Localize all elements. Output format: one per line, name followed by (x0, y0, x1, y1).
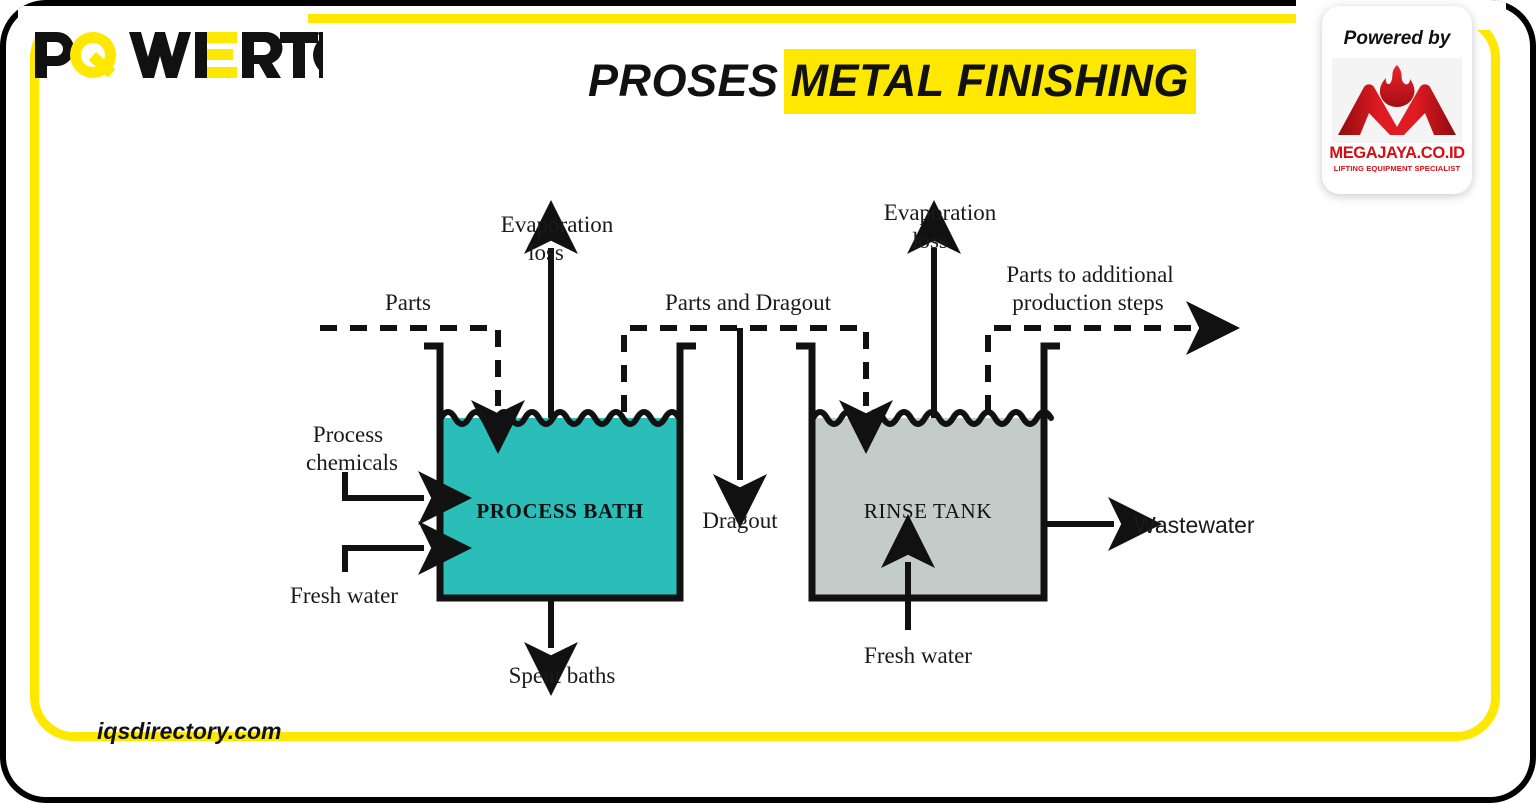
page-title: PROSESMETAL FINISHING (588, 58, 1196, 103)
flow-parts-to-additional-steps-label-line2: production steps (1012, 290, 1163, 315)
rinse-tank-label: RINSE TANK (864, 499, 992, 523)
flow-wastewater-label: Wastewater (1134, 512, 1255, 538)
flow-parts-in-arrow (320, 328, 498, 406)
flow-parts-to-additional-steps: Parts to additional production steps (988, 262, 1192, 412)
flow-process-chemicals-label-line1: Process (313, 422, 383, 447)
powertec-logo: R (33, 27, 323, 83)
flow-fresh-water-rinse-tank-label: Fresh water (864, 643, 972, 668)
flow-fresh-water-process-bath-arrow (345, 548, 424, 572)
flow-parts-to-additional-steps-label-line1: Parts to additional (1006, 262, 1173, 287)
flow-fresh-water-process-bath: Fresh water (290, 548, 424, 608)
powered-by-label: Powered by (1322, 28, 1472, 50)
process-bath-label: PROCESS BATH (476, 499, 643, 523)
svg-text:R: R (318, 36, 323, 43)
flow-evaporation-loss-1-label-line2: loss (528, 240, 564, 265)
process-flow-diagram: PROCESS BATH RINSE TANK Parts Evaporatio… (0, 150, 1536, 710)
source-footer: iqsdirectory.com (97, 718, 281, 745)
flow-dragout-label: Dragout (702, 508, 778, 533)
flow-process-chemicals-arrow (345, 472, 424, 498)
process-bath-tank: PROCESS BATH (424, 346, 696, 598)
flow-parts-and-dragout: Parts and Dragout (624, 290, 866, 412)
page-title-plain: PROSES (588, 55, 779, 106)
flow-parts-in-label: Parts (385, 290, 431, 315)
flow-spent-baths-label: Spent baths (509, 663, 616, 688)
powertec-logo-mark: R (33, 26, 323, 84)
flow-fresh-water-process-bath-label: Fresh water (290, 583, 398, 608)
flow-spent-baths: Spent baths (509, 600, 616, 688)
megajaya-logo-mark (1334, 61, 1460, 139)
flow-evaporation-loss-2-label-line2: loss (912, 228, 948, 253)
flow-parts-and-dragout-label: Parts and Dragout (665, 290, 832, 315)
flow-parts-to-additional-steps-arrow (988, 328, 1192, 412)
flow-evaporation-loss-2-label-line1: Evaporation (884, 200, 997, 225)
flow-evaporation-loss-rinse-tank: Evaporation loss (884, 200, 997, 418)
rinse-tank: RINSE TANK (796, 346, 1060, 598)
flow-evaporation-loss-1-label-line1: Evaporation (501, 212, 614, 237)
flow-parts-in: Parts (320, 290, 498, 406)
flow-evaporation-loss-process-bath: Evaporation loss (501, 212, 614, 418)
flow-process-chemicals-label-line2: chemicals (306, 450, 398, 475)
flow-parts-and-dragout-arrow (624, 328, 866, 412)
megajaya-logo (1332, 58, 1462, 143)
flow-wastewater: Wastewater (1046, 512, 1255, 538)
page-title-highlight: METAL FINISHING (784, 49, 1196, 114)
flow-dragout: Dragout (702, 328, 778, 533)
flow-process-chemicals: Process chemicals (306, 422, 424, 498)
poster-root: R PROSESMETAL FINISHING Powered by (0, 0, 1536, 803)
